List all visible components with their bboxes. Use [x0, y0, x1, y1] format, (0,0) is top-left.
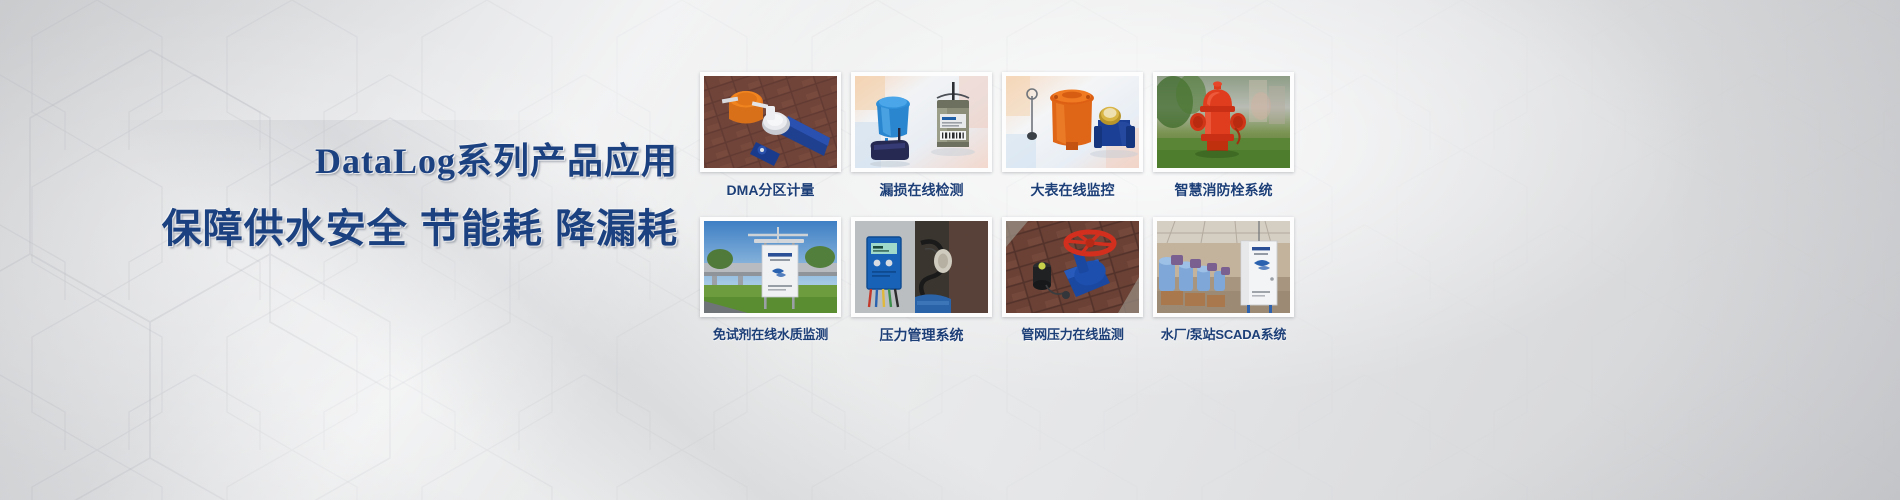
- product-row: DMA分区计量: [700, 72, 1300, 199]
- card-frame: [1002, 72, 1143, 172]
- product-row: 免试剂在线水质监测: [700, 217, 1300, 344]
- product-card-dma-zone-metering[interactable]: DMA分区计量: [700, 72, 841, 199]
- headline-line-secondary: 保障供水安全 节能耗 降漏耗: [0, 204, 678, 254]
- card-frame: [1153, 217, 1294, 317]
- promo-banner: DataLog系列产品应用 保障供水安全 节能耗 降漏耗: [0, 0, 1900, 500]
- product-card-label: 漏损在线检测: [880, 181, 964, 199]
- product-card-waterworks-scada[interactable]: 水厂/泵站SCADA系统: [1153, 217, 1294, 344]
- dma-zone-metering-photo: [704, 76, 837, 168]
- product-card-label: 管网压力在线监测: [1021, 326, 1123, 344]
- product-card-label: 压力管理系统: [880, 326, 964, 344]
- waterworks-scada-photo: [1157, 221, 1290, 313]
- card-frame: [851, 72, 992, 172]
- card-frame: [700, 72, 841, 172]
- headline-block: DataLog系列产品应用 保障供水安全 节能耗 降漏耗: [0, 138, 700, 254]
- smart-fire-hydrant-photo: [1157, 76, 1290, 168]
- card-frame: [851, 217, 992, 317]
- product-card-label: DMA分区计量: [727, 181, 815, 199]
- product-card-label: 大表在线监控: [1031, 181, 1115, 199]
- product-card-reagent-free-water-quality[interactable]: 免试剂在线水质监测: [700, 217, 841, 344]
- pressure-management-photo: [855, 221, 988, 313]
- product-card-pressure-management[interactable]: 压力管理系统: [851, 217, 992, 344]
- card-frame: [1002, 217, 1143, 317]
- headline-line-primary: DataLog系列产品应用: [0, 138, 678, 184]
- product-card-label: 水厂/泵站SCADA系统: [1161, 326, 1286, 344]
- product-card-pipe-network-pressure[interactable]: 管网压力在线监测: [1002, 217, 1143, 344]
- product-application-grid: DMA分区计量: [700, 72, 1300, 344]
- reagent-free-water-quality-photo: [704, 221, 837, 313]
- product-card-leakage-online-detection[interactable]: 漏损在线检测: [851, 72, 992, 199]
- large-meter-monitoring-photo: [1006, 76, 1139, 168]
- product-card-label: 免试剂在线水质监测: [713, 326, 828, 344]
- pipe-network-pressure-photo: [1006, 221, 1139, 313]
- product-card-smart-fire-hydrant[interactable]: 智慧消防栓系统: [1153, 72, 1294, 199]
- product-card-large-meter-monitoring[interactable]: 大表在线监控: [1002, 72, 1143, 199]
- card-frame: [1153, 72, 1294, 172]
- leakage-online-detection-photo: [855, 76, 988, 168]
- product-card-label: 智慧消防栓系统: [1175, 181, 1273, 199]
- card-frame: [700, 217, 841, 317]
